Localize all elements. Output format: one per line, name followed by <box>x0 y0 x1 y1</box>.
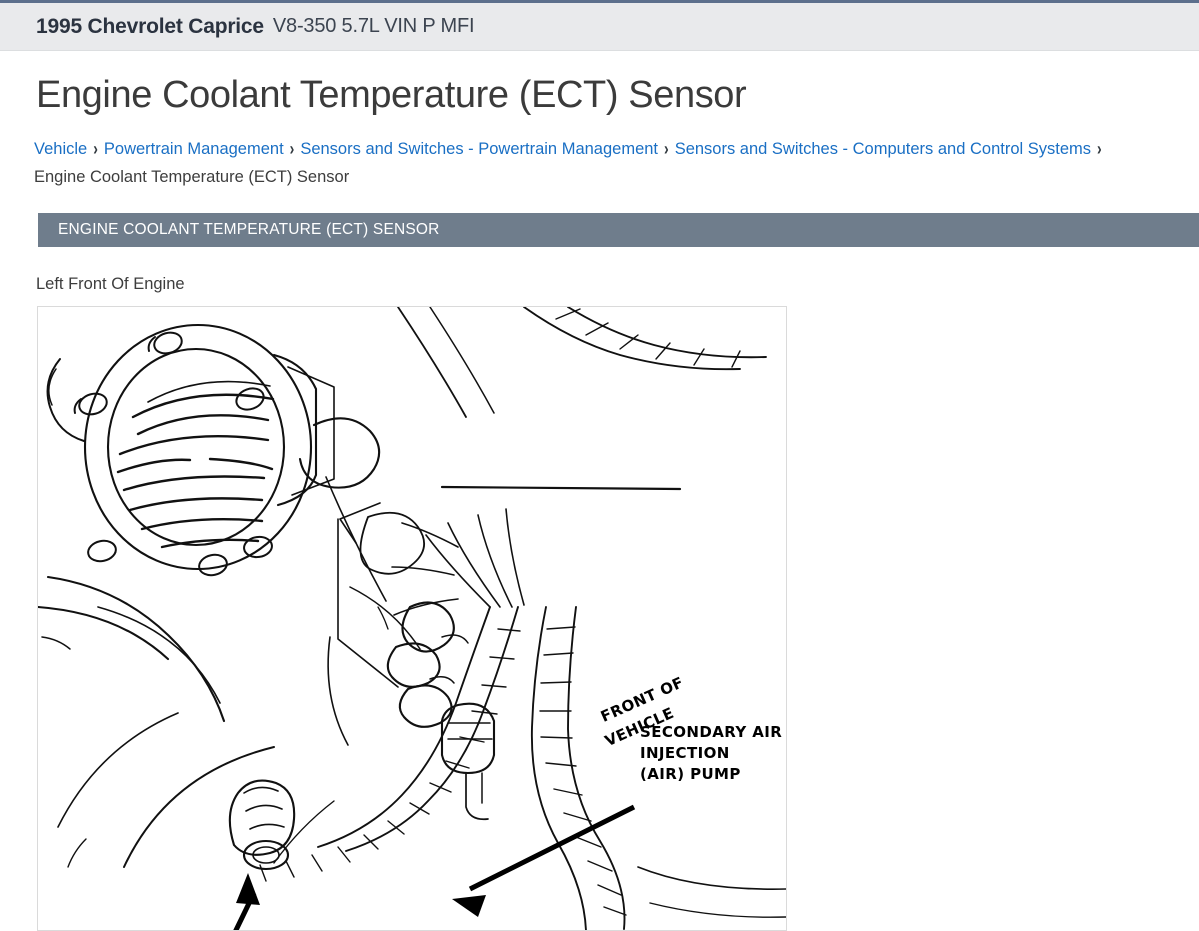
chevron-right-icon: › <box>290 129 295 167</box>
chevron-right-icon: › <box>664 129 669 167</box>
breadcrumb-item-sensors-switches-powertrain[interactable]: Sensors and Switches - Powertrain Manage… <box>300 140 658 158</box>
vehicle-engine-spec: V8-350 5.7L VIN P MFI <box>273 15 474 38</box>
breadcrumb-item-sensors-switches-computers[interactable]: Sensors and Switches - Computers and Con… <box>675 140 1091 158</box>
breadcrumb-item-vehicle[interactable]: Vehicle <box>34 140 87 158</box>
svg-text:INJECTION: INJECTION <box>640 744 730 762</box>
callout-arrow-ect-sensor <box>223 873 260 930</box>
engine-diagram: SECONDARY AIR INJECTION (AIR) PUMP ENGIN… <box>38 307 786 930</box>
callout-arrow-air-pump <box>452 807 634 917</box>
vehicle-name: 1995 Chevrolet Caprice <box>36 15 264 39</box>
section-banner: ENGINE COOLANT TEMPERATURE (ECT) SENSOR <box>38 213 1199 247</box>
breadcrumb-item-current: Engine Coolant Temperature (ECT) Sensor <box>34 168 349 186</box>
breadcrumb-item-powertrain-management[interactable]: Powertrain Management <box>104 140 284 158</box>
callout-text-air-pump: SECONDARY AIR INJECTION (AIR) PUMP <box>640 723 782 783</box>
vehicle-header-bar: 1995 Chevrolet Caprice V8-350 5.7L VIN P… <box>0 0 1199 51</box>
page-title: Engine Coolant Temperature (ECT) Sensor <box>36 75 1199 117</box>
chevron-right-icon: › <box>93 129 98 167</box>
figure-image-frame[interactable]: SECONDARY AIR INJECTION (AIR) PUMP ENGIN… <box>37 306 787 931</box>
figure-caption: Left Front Of Engine <box>36 275 1199 294</box>
section-banner-title: ENGINE COOLANT TEMPERATURE (ECT) SENSOR <box>58 221 440 239</box>
svg-text:(AIR) PUMP: (AIR) PUMP <box>640 765 741 783</box>
chevron-right-icon: › <box>1097 129 1102 167</box>
breadcrumb: Vehicle›Powertrain Management›Sensors an… <box>34 135 1199 191</box>
